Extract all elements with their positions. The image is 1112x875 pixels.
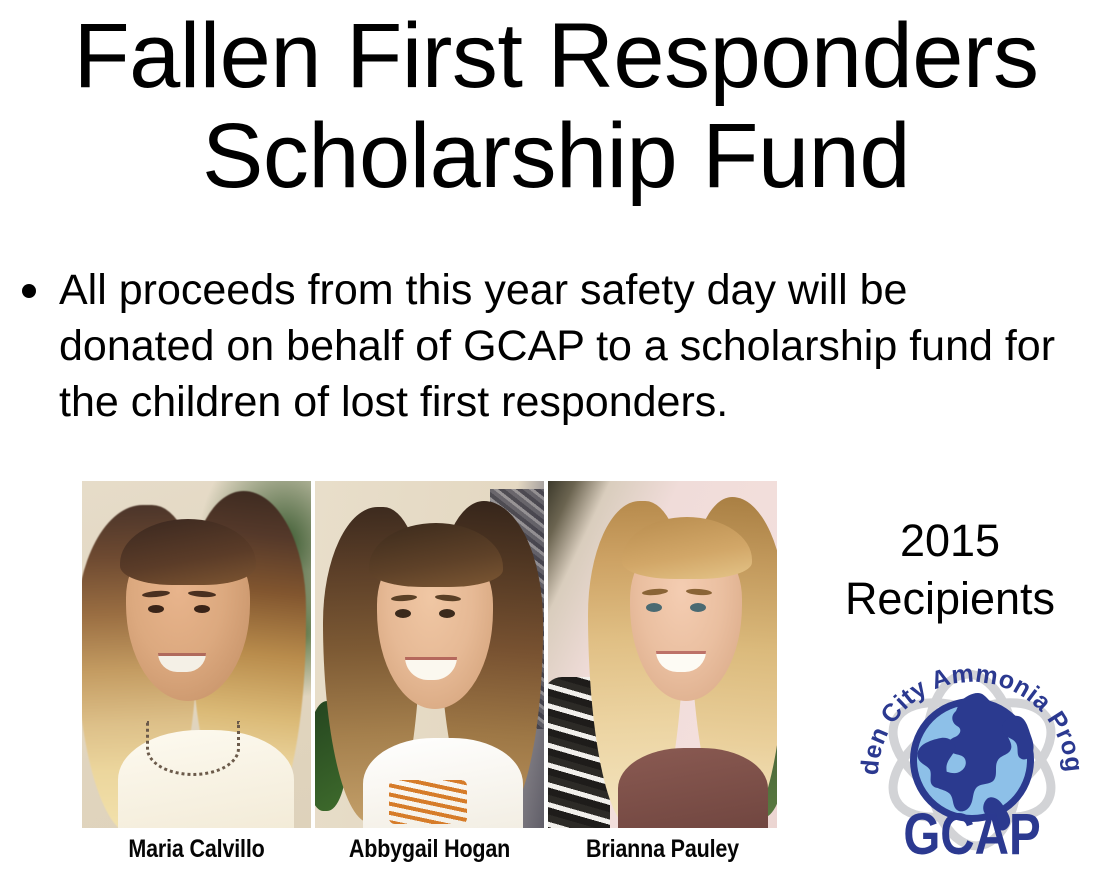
eye-left	[395, 609, 411, 618]
recipients-year: 2015	[800, 512, 1100, 570]
gcap-logo: Garden City Ammonia Program GCAP	[860, 648, 1084, 864]
recipient-photo-strip	[82, 481, 778, 828]
eye-right	[690, 603, 706, 612]
bullet-dot-icon	[22, 284, 36, 298]
recipient-photo-abbygail-hogan	[315, 481, 544, 828]
logo-wordmark: GCAP	[903, 803, 1040, 864]
recipients-heading: 2015 Recipients	[800, 512, 1100, 628]
shirt-graphic	[389, 780, 467, 824]
eye-right	[439, 609, 455, 618]
title-line-2: Scholarship Fund	[0, 106, 1112, 206]
eye-left	[646, 603, 662, 612]
page-title: Fallen First Responders Scholarship Fund	[0, 6, 1112, 206]
recipient-name-row: Maria Calvillo Abbygail Hogan Brianna Pa…	[82, 832, 778, 872]
bullet-paragraph: All proceeds from this year safety day w…	[18, 262, 1066, 430]
recipient-photo-brianna-pauley	[548, 481, 777, 828]
recipient-name-maria-calvillo: Maria Calvillo	[98, 832, 295, 872]
eye-right	[194, 605, 210, 613]
recipient-name-brianna-pauley: Brianna Pauley	[564, 832, 761, 872]
gcap-logo-graphic: Garden City Ammonia Program GCAP	[860, 648, 1084, 864]
recipients-label: Recipients	[800, 570, 1100, 628]
recipient-photo-maria-calvillo	[82, 481, 311, 828]
slide-canvas: Fallen First Responders Scholarship Fund…	[0, 0, 1112, 875]
bullet-paragraph-text: All proceeds from this year safety day w…	[59, 262, 1066, 430]
title-line-1: Fallen First Responders	[0, 6, 1112, 106]
necklace	[146, 721, 240, 776]
eye-left	[148, 605, 164, 613]
clothing	[618, 748, 768, 828]
recipient-name-abbygail-hogan: Abbygail Hogan	[331, 832, 528, 872]
